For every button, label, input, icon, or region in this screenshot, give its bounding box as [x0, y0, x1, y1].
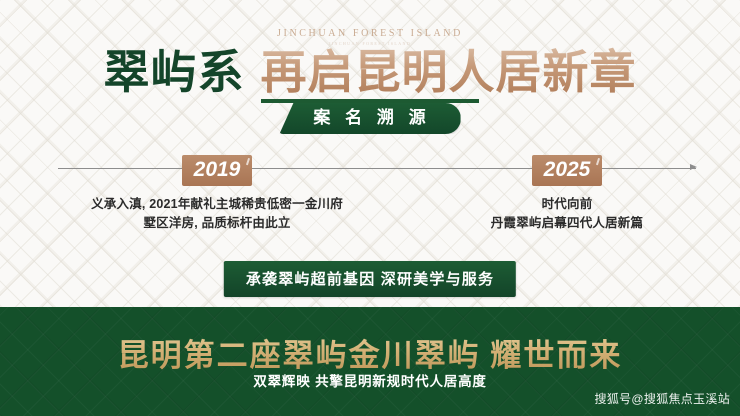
timeline-node-2025: 2025 时代向前 丹霞翠屿启幕四代人居新篇	[432, 155, 702, 233]
timeline-line-1: 义承入滇, 2021年献礼主城稀贵低密一金川府	[32, 195, 402, 214]
watermark-text: 搜狐号@搜狐焦点玉溪站	[595, 390, 730, 407]
footer-panel: 昆明第二座翠屿金川翠屿 耀世而来 双翠辉映 共擎昆明新规时代人居高度 搜狐号@搜…	[0, 307, 740, 416]
timeline-description-2019: 义承入滇, 2021年献礼主城稀贵低密一金川府 墅区洋房, 品质标杆由此立	[32, 195, 402, 233]
timeline-line-1: 时代向前	[432, 195, 702, 214]
timeline-description-2025: 时代向前 丹霞翠屿启幕四代人居新篇	[432, 195, 702, 233]
statement-banner: 承袭翠屿超前基因 深研美学与服务	[224, 261, 516, 297]
timeline-node-2019: 2019 义承入滇, 2021年献礼主城稀贵低密一金川府 墅区洋房, 品质标杆由…	[32, 155, 402, 233]
year-tick-mark-icon	[596, 158, 600, 165]
ribbon-underline-bar	[261, 99, 479, 103]
headline-tagline: 再启昆明人居新章	[261, 47, 637, 98]
timeline-line-2: 丹霞翠屿启幕四代人居新篇	[432, 214, 702, 233]
brand-name: JINCHUAN FOREST ISLAND	[0, 28, 740, 39]
poster-canvas: JINCHUAN FOREST ISLAND JINCHUAN FOREST I…	[0, 0, 740, 416]
year-badge-2019: 2019	[182, 155, 253, 186]
headline-series-name: 翠屿系	[104, 47, 245, 98]
ribbon-label: 案 名 溯 源	[279, 103, 460, 134]
brand-subtitle: JINCHUAN FOREST ISLAND	[0, 41, 740, 46]
page-title: 翠屿系再启昆明人居新章	[0, 50, 740, 96]
timeline-line-2: 墅区洋房, 品质标杆由此立	[32, 214, 402, 233]
brand-logo: JINCHUAN FOREST ISLAND JINCHUAN FOREST I…	[0, 28, 740, 46]
year-label: 2019	[194, 158, 241, 182]
year-badge-2025: 2025	[532, 155, 603, 186]
year-tick-mark-icon	[246, 158, 250, 165]
footer-subtitle: 双翠辉映 共擎昆明新规时代人居高度	[0, 370, 740, 390]
footer-title: 昆明第二座翠屿金川翠屿 耀世而来	[0, 330, 740, 375]
year-label: 2025	[544, 158, 591, 182]
section-ribbon: 案 名 溯 源	[0, 103, 740, 135]
